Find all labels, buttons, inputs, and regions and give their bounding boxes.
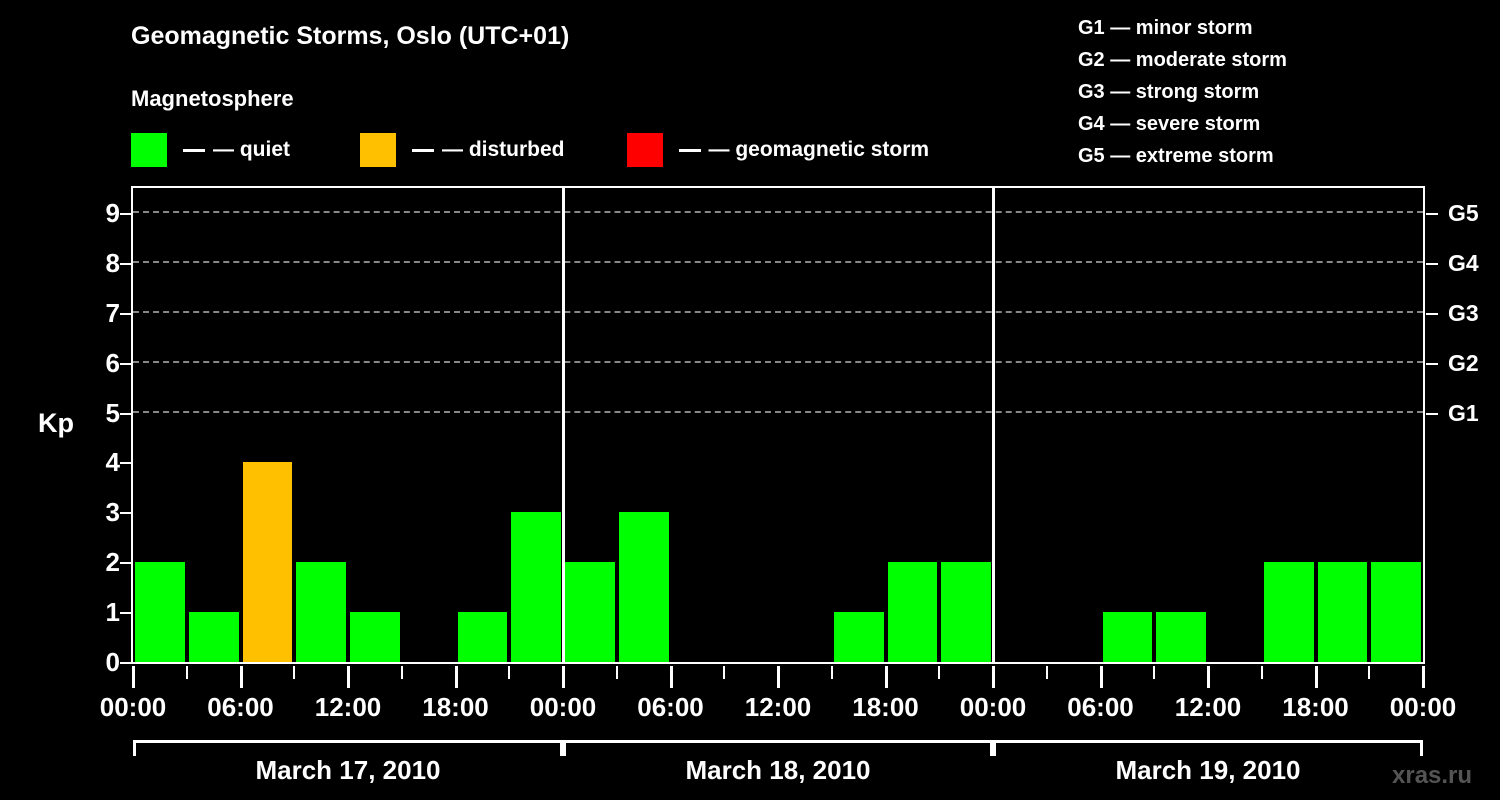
g-tick-label: G5 [1448, 202, 1479, 225]
x-tick-minor [186, 666, 188, 679]
y-tick-label: 1 [80, 599, 120, 625]
bar [888, 562, 938, 662]
bar [1156, 612, 1206, 662]
y-tick-label: 0 [80, 649, 120, 675]
date-bracket [993, 740, 1423, 756]
plot-area [131, 186, 1425, 664]
gridline [133, 211, 1423, 213]
chart-root: Geomagnetic Storms, Oslo (UTC+01) Magnet… [0, 0, 1500, 800]
bar [1264, 562, 1314, 662]
legend-swatch-storm [627, 133, 663, 167]
y-tick-mark [120, 562, 132, 564]
bar [1103, 612, 1153, 662]
bar [834, 612, 884, 662]
gridline [133, 311, 1423, 313]
y-tick-label: 5 [80, 400, 120, 426]
x-tick-minor [1046, 666, 1048, 679]
legend-dash-icon [183, 149, 205, 152]
x-tick-major [1100, 666, 1103, 688]
y-tick-mark [120, 263, 132, 265]
legend-swatch-quiet [131, 133, 167, 167]
bar [1371, 562, 1421, 662]
bar [565, 562, 615, 662]
x-tick-minor [1368, 666, 1370, 679]
bar [350, 612, 400, 662]
g-tick-mark [1426, 263, 1438, 265]
date-label: March 19, 2010 [993, 755, 1423, 786]
g-tick-label: G3 [1448, 302, 1479, 325]
x-tick-major [347, 666, 350, 688]
x-tick-minor [723, 666, 725, 679]
plot-inner [133, 188, 1423, 662]
legend-dash-icon [679, 149, 701, 152]
x-tick-minor [401, 666, 403, 679]
bar [511, 512, 561, 662]
x-tick-minor [1153, 666, 1155, 679]
x-tick-minor [293, 666, 295, 679]
bar [243, 462, 293, 662]
bar [619, 512, 669, 662]
bar [135, 562, 185, 662]
g-tick-mark [1426, 213, 1438, 215]
gridline [133, 261, 1423, 263]
y-axis-title: Kp [38, 408, 74, 439]
legend-item-storm: — geomagnetic storm [627, 132, 930, 168]
legend-item-quiet: — quiet [131, 132, 290, 168]
y-tick-mark [120, 512, 132, 514]
x-tick-minor [508, 666, 510, 679]
y-tick-label: 3 [80, 499, 120, 525]
x-tick-major [132, 666, 135, 688]
date-bracket [133, 740, 563, 756]
g-tick-label: G1 [1448, 402, 1479, 425]
x-tick-minor [831, 666, 833, 679]
gridline [133, 411, 1423, 413]
y-tick-mark [120, 413, 132, 415]
bar [189, 612, 239, 662]
g-tick-mark [1426, 313, 1438, 315]
g-scale-row-g1: G1 — minor storm [1078, 12, 1287, 44]
page-title: Geomagnetic Storms, Oslo (UTC+01) [131, 22, 569, 51]
g-tick-mark [1426, 413, 1438, 415]
y-tick-mark [120, 612, 132, 614]
day-divider [992, 188, 995, 662]
x-tick-minor [616, 666, 618, 679]
g-tick-mark [1426, 363, 1438, 365]
x-tick-major [455, 666, 458, 688]
legend-label-disturbed: — disturbed [442, 138, 565, 162]
y-tick-mark [120, 313, 132, 315]
y-tick-label: 7 [80, 300, 120, 326]
legend-swatch-disturbed [360, 133, 396, 167]
x-tick-major [240, 666, 243, 688]
y-tick-label: 4 [80, 449, 120, 475]
x-tick-major [562, 666, 565, 688]
x-tick-major [670, 666, 673, 688]
x-tick-major [777, 666, 780, 688]
date-label: March 18, 2010 [563, 755, 993, 786]
g-scale-row-g2: G2 — moderate storm [1078, 44, 1287, 76]
g-tick-label: G2 [1448, 352, 1479, 375]
y-tick-mark [120, 462, 132, 464]
legend-item-disturbed: — disturbed [360, 132, 565, 168]
g-scale-row-g5: G5 — extreme storm [1078, 140, 1287, 172]
x-tick-major [1207, 666, 1210, 688]
y-tick-mark [120, 213, 132, 215]
x-tick-minor [938, 666, 940, 679]
y-tick-mark [120, 363, 132, 365]
y-tick-label: 2 [80, 549, 120, 575]
g-scale-row-g3: G3 — strong storm [1078, 76, 1287, 108]
x-tick-major [992, 666, 995, 688]
g-scale-row-g4: G4 — severe storm [1078, 108, 1287, 140]
x-tick-minor [1261, 666, 1263, 679]
y-tick-mark [120, 662, 132, 664]
bar [296, 562, 346, 662]
date-bracket [563, 740, 993, 756]
bar [1318, 562, 1368, 662]
legend-label-quiet: — quiet [213, 138, 290, 162]
y-tick-label: 9 [80, 200, 120, 226]
legend-dash-icon [412, 149, 434, 152]
x-tick-major [1315, 666, 1318, 688]
x-tick-major [885, 666, 888, 688]
legend-heading: Magnetosphere [131, 86, 294, 112]
y-tick-label: 8 [80, 250, 120, 276]
legend: — quiet — disturbed — geomagnetic storm [131, 132, 929, 168]
x-tick-label: 00:00 [1358, 692, 1488, 723]
g-tick-label: G4 [1448, 252, 1479, 275]
bar [941, 562, 991, 662]
bar [458, 612, 508, 662]
date-label: March 17, 2010 [133, 755, 563, 786]
x-tick-major [1422, 666, 1425, 688]
y-tick-label: 6 [80, 350, 120, 376]
legend-label-storm: — geomagnetic storm [709, 138, 930, 162]
gridline [133, 361, 1423, 363]
g-scale-legend: G1 — minor storm G2 — moderate storm G3 … [1078, 12, 1287, 172]
